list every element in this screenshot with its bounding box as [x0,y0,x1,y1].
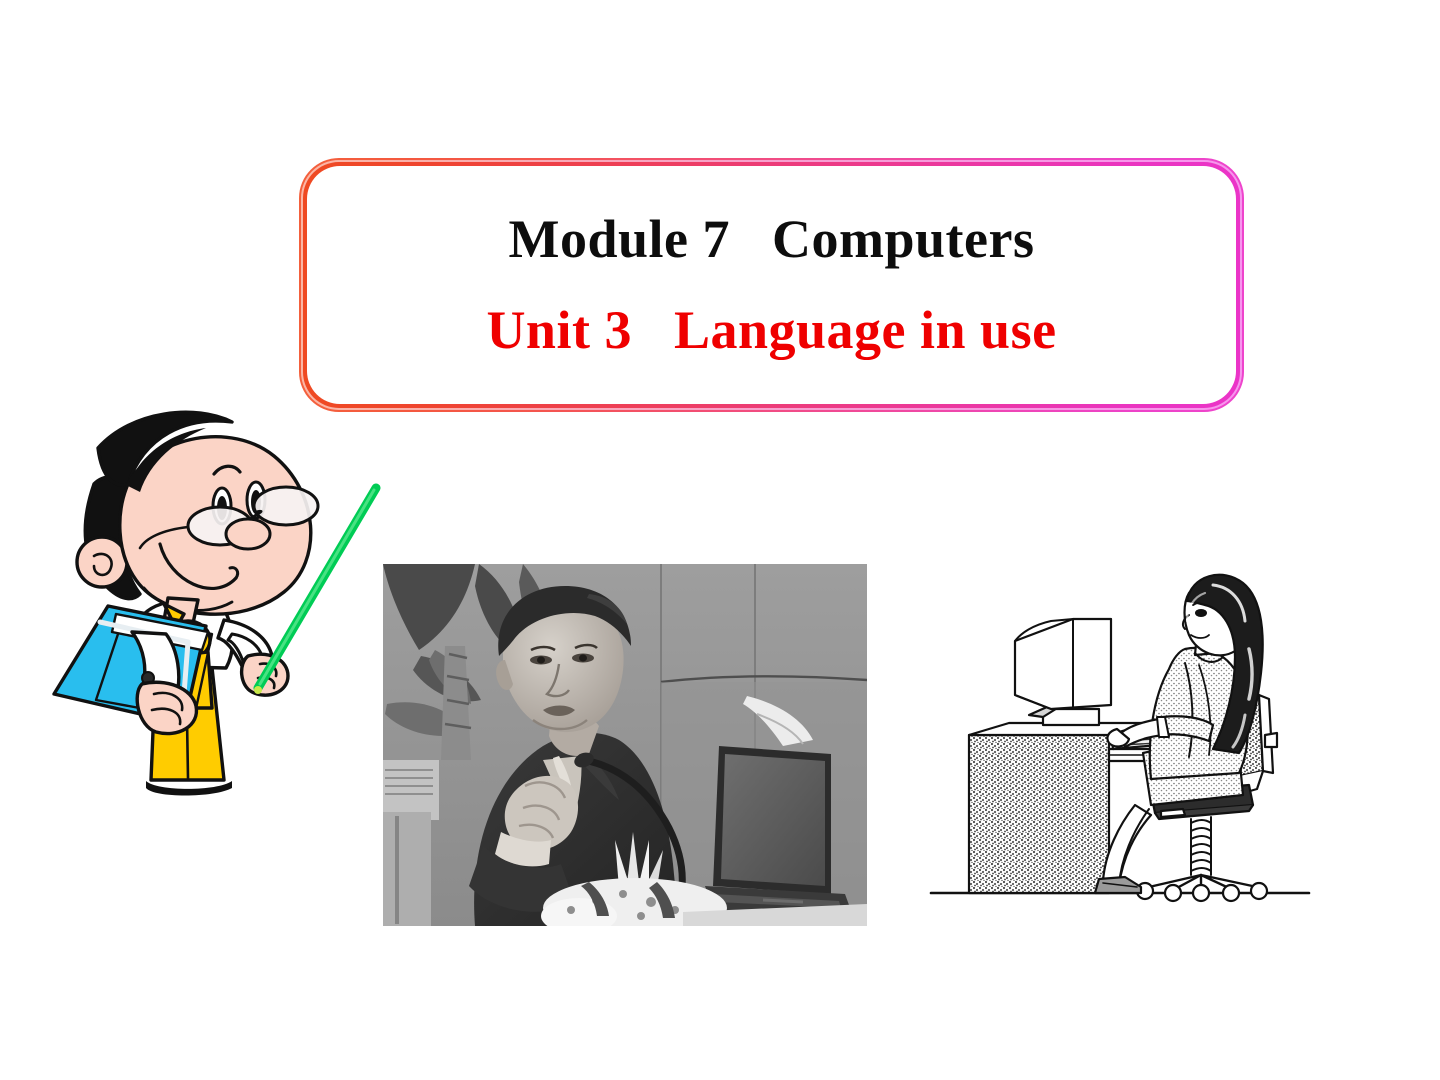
title-banner: Module 7 Computers Unit 3 Language in us… [299,158,1244,412]
page-title-unit: Unit 3 Language in use [486,302,1056,359]
desk [969,735,1109,893]
woman-at-computer-desk-content [913,557,1331,937]
page-title-module: Module 7 Computers [509,211,1035,268]
woman-at-computer-desk-lineart [913,557,1331,937]
man-at-laptop-photo [383,564,867,926]
cartoon-teacher-figure [36,388,396,818]
cartoon-teacher-illustration [36,388,396,818]
glasses-lens-right [254,487,318,525]
laptop [705,746,853,916]
banner-content: Module 7 Computers Unit 3 Language in us… [299,158,1244,412]
man-at-laptop-photo-content [383,564,867,926]
